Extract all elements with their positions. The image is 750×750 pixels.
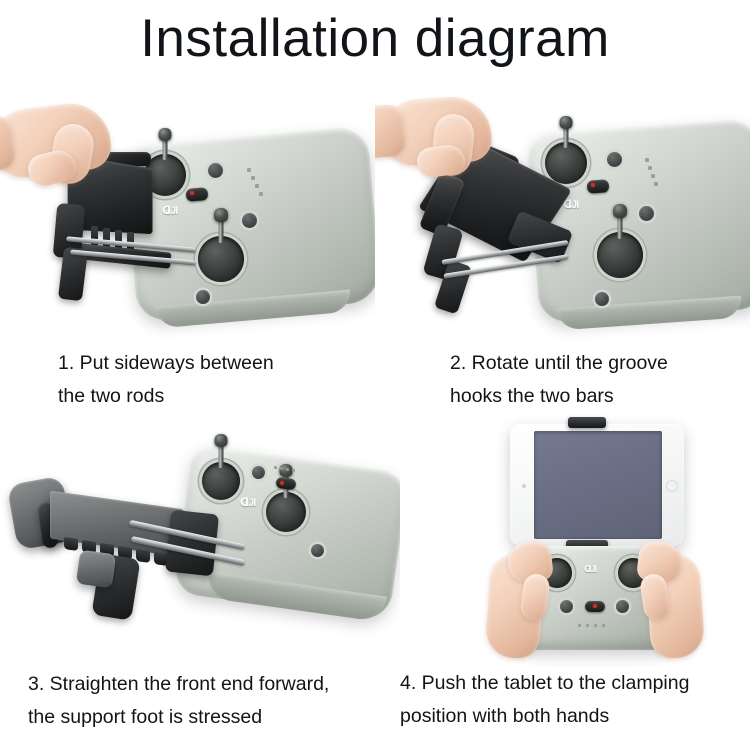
led-indicator — [578, 624, 581, 627]
clamp-jaw-top — [568, 417, 606, 428]
step-1-photo: ᗡJI — [0, 92, 375, 342]
led-indicator — [274, 466, 277, 469]
tablet-front-camera — [522, 484, 526, 488]
led-indicator — [654, 182, 658, 186]
function-button[interactable] — [639, 206, 654, 221]
joystick-knob — [613, 204, 627, 218]
support-foot-pad — [76, 550, 116, 589]
tablet-home-button[interactable] — [666, 480, 678, 492]
step-4-cell: ᗡJI 4. Push the tab — [400, 412, 750, 670]
step-3-caption-line1: 3. Straighten the front end forward, — [28, 668, 329, 701]
led-indicator — [645, 158, 649, 162]
step-2-photo: ᗡJI — [375, 92, 750, 342]
led-indicator — [255, 184, 259, 188]
installation-diagram-page: Installation diagram — [0, 0, 750, 750]
step-3-cell: ᗡJI 3. Straighten th — [0, 420, 400, 670]
record-red-dot — [593, 604, 597, 608]
joystick-well — [266, 492, 306, 532]
right-function-button[interactable] — [616, 600, 629, 613]
left-hand — [383, 92, 523, 202]
step-3-caption-line2: the support foot is stressed — [28, 701, 262, 734]
step-2-cell: ᗡJI 2. Rotate until the groove hooks — [375, 92, 750, 342]
step-2-caption-line2: hooks the two bars — [450, 380, 614, 413]
step-3-photo: ᗡJI — [0, 420, 400, 665]
led-indicator — [602, 624, 605, 627]
page-title: Installation diagram — [0, 8, 750, 70]
left-hand — [0, 96, 142, 206]
step-4-caption-line2: position with both hands — [400, 700, 609, 733]
record-button-lower[interactable] — [196, 290, 210, 304]
tablet-screen[interactable] — [534, 431, 662, 539]
led-indicator — [586, 624, 589, 627]
led-indicator — [651, 174, 655, 178]
led-indicator — [259, 192, 263, 196]
step-1-cell: ᗡJI — [0, 92, 375, 342]
power-button[interactable] — [252, 466, 265, 479]
joystick-knob — [560, 116, 573, 129]
dji-logo: ᗡJI — [240, 496, 255, 509]
led-indicator — [292, 469, 295, 472]
step-4-photo: ᗡJI — [400, 412, 750, 667]
led-indicator — [280, 467, 283, 470]
joystick-knob — [159, 128, 172, 141]
joystick-knob — [215, 434, 228, 447]
led-indicator — [286, 468, 289, 471]
left-function-button[interactable] — [560, 600, 573, 613]
holder-slot — [64, 537, 78, 551]
joystick-lower[interactable] — [266, 492, 306, 532]
step-1-caption-line1: 1. Put sideways between — [58, 347, 274, 380]
step-2-caption-line1: 2. Rotate until the groove — [450, 347, 668, 380]
record-red-dot — [280, 481, 284, 485]
step-4-caption-line1: 4. Push the tablet to the clamping — [400, 667, 689, 700]
led-indicator — [648, 166, 652, 170]
function-button[interactable] — [242, 213, 257, 228]
led-indicator — [251, 176, 255, 180]
function-button[interactable] — [311, 544, 324, 557]
step-1-caption-line2: the two rods — [58, 380, 164, 413]
power-button[interactable] — [607, 152, 622, 167]
tablet — [510, 424, 684, 546]
led-indicator — [247, 168, 251, 172]
led-indicator — [594, 624, 597, 627]
holder-slot — [136, 549, 150, 563]
left-hand — [486, 534, 556, 664]
dji-logo: ᗡJI — [584, 564, 596, 575]
right-hand — [634, 534, 704, 664]
